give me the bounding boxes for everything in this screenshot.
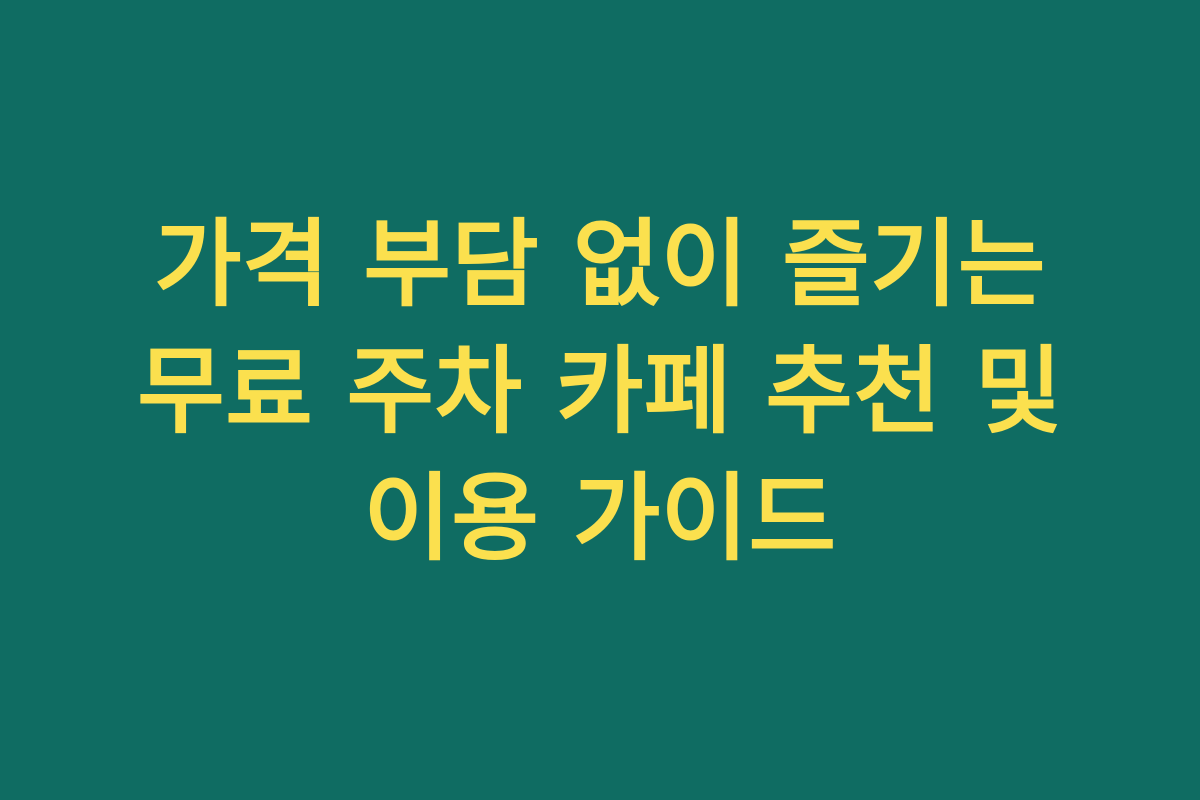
headline-line-3: 이용 가이드	[50, 456, 1150, 583]
banner-canvas: 가격 부담 없이 즐기는 무료 주차 카페 추천 및 이용 가이드	[0, 0, 1200, 800]
headline-text-block: 가격 부담 없이 즐기는 무료 주차 카페 추천 및 이용 가이드	[50, 202, 1150, 583]
headline-line-1: 가격 부담 없이 즐기는	[50, 202, 1150, 329]
headline-line-2: 무료 주차 카페 추천 및	[50, 329, 1150, 456]
